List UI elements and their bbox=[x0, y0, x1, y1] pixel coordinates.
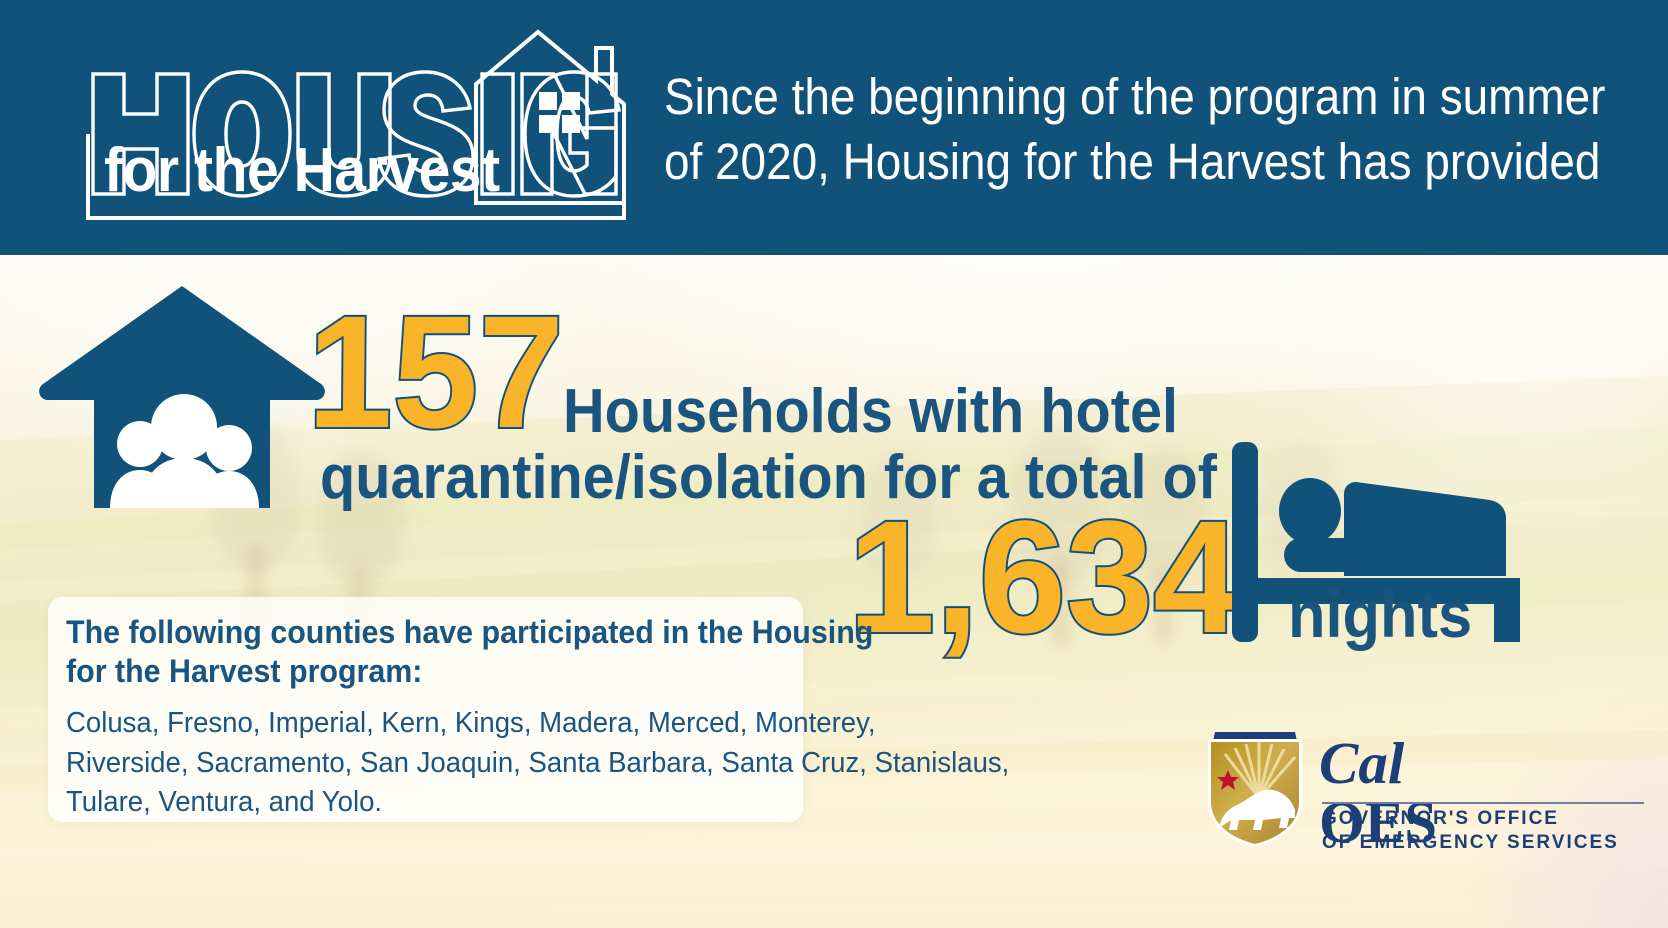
cal-oes-subtitle: GOVERNOR'S OFFICE OF EMERGENCY SERVICES bbox=[1322, 807, 1619, 855]
house-with-family-icon bbox=[38, 278, 326, 508]
counties-heading-line-2: for the Harvest program: bbox=[66, 652, 750, 691]
header-intro-line-1: Since the beginning of the program in su… bbox=[664, 64, 1546, 129]
counties-heading: The following counties have participated… bbox=[66, 613, 750, 691]
counties-list-line-2: Riverside, Sacramento, San Joaquin, Sant… bbox=[66, 744, 779, 784]
stat-label-nights: nights bbox=[1288, 576, 1472, 652]
cal-oes-divider bbox=[1322, 802, 1644, 804]
counties-list: Colusa, Fresno, Imperial, Kern, Kings, M… bbox=[66, 704, 779, 823]
header-intro-line-2: of 2020, Housing for the Harvest has pro… bbox=[664, 129, 1546, 194]
logo-subtitle: for the Harvest bbox=[104, 140, 500, 202]
stat-value-nights: 1,634 bbox=[848, 505, 1240, 649]
counties-list-line-3: Tulare, Ventura, and Yolo. bbox=[66, 783, 779, 823]
counties-list-line-1: Colusa, Fresno, Imperial, Kern, Kings, M… bbox=[66, 704, 779, 744]
stat-value-households: 157 bbox=[307, 300, 564, 444]
cal-oes-subtitle-line-2: OF EMERGENCY SERVICES bbox=[1322, 831, 1619, 855]
cal-oes-cal-text: Cal bbox=[1319, 730, 1404, 796]
counties-card: The following counties have participated… bbox=[48, 597, 803, 822]
cal-oes-shield-icon bbox=[1203, 728, 1307, 846]
cal-oes-subtitle-line-1: GOVERNOR'S OFFICE bbox=[1322, 807, 1619, 831]
program-logo: for the Harvest bbox=[46, 22, 636, 227]
counties-heading-line-1: The following counties have participated… bbox=[66, 613, 750, 652]
header-band: for the Harvest Since the beginning of t… bbox=[0, 0, 1668, 255]
stat-label-line-1: Households with hotel bbox=[563, 378, 1178, 446]
header-intro-text: Since the beginning of the program in su… bbox=[664, 64, 1546, 195]
infographic-canvas: for the Harvest Since the beginning of t… bbox=[0, 0, 1668, 928]
